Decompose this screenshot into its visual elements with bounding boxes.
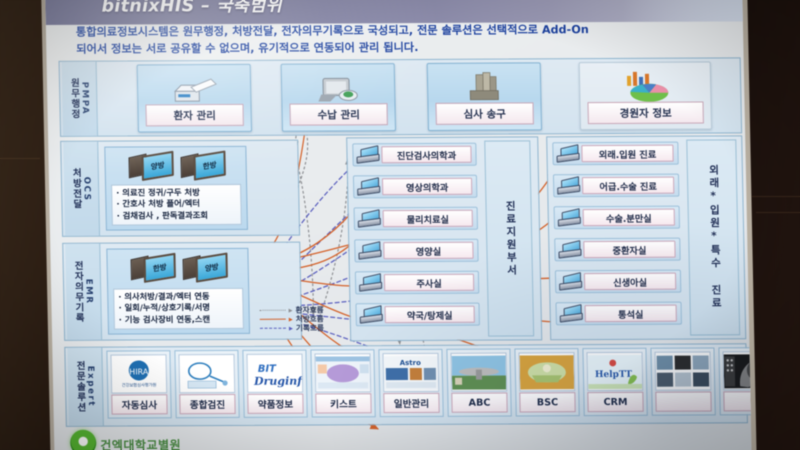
astro-site-thumb: Astro <box>382 353 439 392</box>
care-dept-group-label: 외래*입원*특수 진료 <box>706 165 720 311</box>
monitor-icon-ocs-2: 한방 <box>180 152 223 178</box>
legend-arrowhead <box>289 326 293 330</box>
dept-label: 주사실 <box>384 274 474 291</box>
emr-feature-item: 일회/누적/상호기록/서명 <box>118 302 238 314</box>
dept-label: 영양실 <box>383 242 473 259</box>
dept-row-surgery-delivery[interactable]: 수술.분만실 <box>554 206 680 230</box>
ocs-feature-item: 검채검사 , 판독결과조회 <box>117 210 237 222</box>
expert-tile-caption: 키스트 <box>315 393 371 413</box>
band-label-pmpa-en: PMPA <box>79 82 90 115</box>
card-caption-patient-management: 환자 관리 <box>145 104 243 127</box>
legend-swatch-dashed-blue <box>260 328 286 329</box>
helptt-text: HelpTT <box>595 369 633 379</box>
legend-swatch-solid-orange <box>260 319 286 320</box>
dept-label: 외래.입원 진료 <box>581 145 673 162</box>
card-payment-management[interactable]: 수납 관리 <box>281 63 396 132</box>
dept-row-dialysis[interactable]: 통석실 <box>555 302 681 326</box>
photographed-projection-screenshot: bitnixHIS – 국축범위 통합의료정보시스템은 원무행정, 처방전달, … <box>0 0 800 450</box>
wall-panel-seam-lower2 <box>756 212 800 213</box>
dept-label: 통석실 <box>585 305 677 322</box>
dept-label: 약국/탕제실 <box>385 306 475 323</box>
slide-surface: bitnixHIS – 국축범위 통합의료정보시스템은 원무행정, 처방전달, … <box>45 0 752 450</box>
dept-row-injection[interactable]: 주사실 <box>355 271 479 295</box>
flow-legend: 환자흐름 처방흐름 기록흐름 <box>260 305 325 332</box>
laptop-icon <box>558 242 580 257</box>
expert-tile-caption: 종합검진 <box>179 394 235 414</box>
expert-tile-caption: CRM <box>587 392 643 412</box>
title-band-highlight <box>622 0 743 22</box>
care-dept-group-caption: 외래*입원*특수 진료 <box>686 139 740 335</box>
dept-label: 중환자실 <box>583 241 675 258</box>
band-label-emr-kr: 전자의무기록 <box>72 261 83 323</box>
support-dept-group-caption: 진료지원부서 <box>484 140 534 336</box>
checkup-logo-thumb <box>178 354 235 393</box>
laptop-icon <box>558 210 580 225</box>
dept-row-radiology[interactable]: 영상의학과 <box>353 175 477 199</box>
dept-row-physical-therapy[interactable]: 물리치료실 <box>354 207 478 231</box>
ocs-feature-item: 의료진 정귀/구두 처방 <box>116 187 236 199</box>
svg-text:HIRA: HIRA <box>129 367 149 376</box>
dept-row-pharmacy[interactable]: 약국/탕제실 <box>355 303 479 327</box>
laptop-icon <box>358 211 380 226</box>
expert-tile-auto-review[interactable]: HIRA 건강보험심사평가원 자동심사 <box>106 350 171 418</box>
emr-feature-list: 의사처방/결과/엑터 연동 일회/누적/상호기록/서명 기능 검사장비 연동,스… <box>113 288 244 330</box>
legend-arrowhead <box>289 317 293 321</box>
support-dept-group-label: 진료지원부서 <box>503 200 516 277</box>
ultrasound-thumb <box>723 351 752 390</box>
wall-panel-seam-upper <box>0 158 40 159</box>
dept-row-nutrition[interactable]: 영양실 <box>354 239 478 263</box>
band-label-pmpa-kr: 원무행정 <box>68 78 79 120</box>
monitor-icon-emr-1: 한방 <box>130 254 173 280</box>
dept-row-outpatient-inpatient[interactable]: 외래.입원 진료 <box>552 142 678 166</box>
dept-label: 진단검사의학과 <box>381 146 471 163</box>
legend-item-record-flow: 기록흐름 <box>260 323 324 332</box>
wall-panel-seam-lower <box>752 196 800 197</box>
band-label-emr-en: EMR <box>83 279 94 305</box>
emr-system-box[interactable]: 한방 양방 의사처방/결과/엑터 연동 일회/누적/상호기록/서명 기능 검사장… <box>106 248 250 335</box>
band-label-ocs-en: OCS <box>81 176 91 201</box>
ocs-system-box[interactable]: 양방 한방 의료진 정귀/구두 처방 간호사 처방 플어/엑터 검채검사 , 판… <box>104 146 248 231</box>
band-label-expert-en: Expert <box>85 366 96 407</box>
dept-row-diagnostic-lab[interactable]: 진단검사의학과 <box>352 143 476 167</box>
expert-tile-caption <box>655 391 711 411</box>
laptop-icon <box>559 274 581 289</box>
laptop-icon <box>556 146 578 161</box>
laptop-icon <box>557 178 579 193</box>
laptop-icon <box>358 243 380 258</box>
expert-tile-drug-info[interactable]: BIT Druginfo 약품정보 <box>242 350 307 418</box>
legend-swatch-dotted-gray <box>260 310 286 311</box>
expert-tile-bsc[interactable]: BSC <box>514 348 579 416</box>
helptt-logo-thumb: HelpTT <box>586 352 643 391</box>
ocs-feature-item: 간호사 처방 플어/엑터 <box>116 198 236 210</box>
ocs-monitor-group: 양방 한방 <box>105 150 246 181</box>
monitor-screen-label: 양방 <box>196 252 228 282</box>
band-label-ocs: 처방전달 OCS <box>63 142 100 236</box>
card-claim-review[interactable]: 심사 송구 <box>427 62 542 131</box>
expert-tile-caption: ABC <box>451 393 507 413</box>
monitor-screen-label: 한방 <box>144 253 176 283</box>
support-dept-column: 진단검사의학과 영상의학과 물리치료실 영양실 <box>352 141 480 336</box>
slide-intro-paragraph: 통합의료정보시스템은 원무행정, 처방전달, 전자의무기록으로 국성되고, 전문… <box>76 21 737 58</box>
band-label-emr: 전자의무기록 EMR <box>65 244 102 340</box>
dept-label: 영상의학과 <box>382 178 472 195</box>
pacs-grid-thumb <box>655 351 712 390</box>
hira-caption: 건강보험심사평가원 <box>122 381 157 388</box>
emr-feature-item: 기능 검사장비 연동,스캔 <box>119 314 239 326</box>
laptop-icon <box>359 275 381 290</box>
organization-logo-icon <box>70 430 97 450</box>
abc-photo-thumb <box>450 353 507 392</box>
druginfo-bit-text: BIT <box>258 363 278 374</box>
expert-tile-caption: 일반관리 <box>383 393 439 413</box>
band-label-ocs-kr: 처방전달 <box>70 168 81 210</box>
card-patient-management[interactable]: 환자 관리 <box>137 64 252 133</box>
expert-tile-caption <box>723 391 751 411</box>
ocs-feature-list: 의료진 정귀/구두 처방 간호사 처방 플어/엑터 검채검사 , 판독결과조회 <box>111 184 242 226</box>
band-label-expert-kr: 전문솔루션 <box>74 361 85 413</box>
expert-tile-abc[interactable]: ABC <box>446 349 511 417</box>
slide-title: bitnixHIS – 국축범위 <box>101 0 282 18</box>
dept-label: 물리치료실 <box>383 210 473 227</box>
dept-label: 수술.분만실 <box>583 209 675 226</box>
expert-tile-pacs[interactable] <box>650 347 715 415</box>
band-label-expert: 전문솔루션 Expert <box>67 348 104 426</box>
expert-tile-ultrasound[interactable] <box>718 347 751 415</box>
monitor-icon-ocs-1: 양방 <box>128 152 171 178</box>
expert-tile-general-admin[interactable]: Astro 일반관리 <box>378 349 443 417</box>
laptop-icon <box>560 306 582 321</box>
dept-row-icu[interactable]: 중환자실 <box>554 238 680 262</box>
card-executive-info[interactable]: 경원자 정보 <box>579 61 712 130</box>
emr-monitor-group: 한방 양방 <box>107 252 248 283</box>
expert-tile-kist[interactable]: 키스트 <box>310 349 375 417</box>
card-caption-payment-management: 수납 관리 <box>289 103 387 126</box>
hira-logo-thumb: HIRA 건강보험심사평가원 <box>110 354 167 393</box>
bit-druginfo-logo-thumb: BIT Druginfo <box>246 354 303 393</box>
expert-tile-caption: BSC <box>519 392 575 412</box>
expert-tile-crm[interactable]: HelpTT CRM <box>582 348 647 416</box>
monitor-screen-label: 한방 <box>193 150 225 180</box>
bsc-photo-thumb <box>518 352 575 391</box>
card-caption-executive-info: 경원자 정보 <box>587 102 703 125</box>
druginfo-name-text: Druginfo <box>253 374 302 387</box>
dept-row-emergency-surgery[interactable]: 어급.수술 진료 <box>553 174 679 198</box>
monitor-icon-emr-2: 양방 <box>182 254 225 280</box>
laptop-icon <box>357 179 379 194</box>
emr-feature-item: 의사처방/결과/엑터 연동 <box>118 291 238 303</box>
dept-label: 어급.수술 진료 <box>582 177 674 194</box>
intro-line-2: 되어서 정보는 서로 공유할 수 없으며, 유기적으로 연동되어 관리 됩니다. <box>76 38 736 58</box>
laptop-icon <box>356 147 378 162</box>
legend-label: 기록흐름 <box>296 322 324 333</box>
expert-tile-caption: 자동심사 <box>111 394 167 414</box>
dept-row-nicu[interactable]: 신생아실 <box>555 270 681 294</box>
intro-line-1: 통합의료정보시스템은 원무행정, 처방전달, 전자의무기록으로 국성되고, 전문… <box>76 23 589 39</box>
expert-tile-checkup[interactable]: 종합검진 <box>174 350 239 418</box>
laptop-icon <box>360 307 382 322</box>
dept-label: 신생아실 <box>584 273 676 290</box>
band-label-pmpa: 원무행정 PMPA <box>62 62 98 136</box>
organization-logo-text: 건엑대학교별원 <box>100 436 181 450</box>
care-dept-column: 외래.입원 진료 어급.수술 진료 수술.분만실 중환자실 <box>552 140 682 335</box>
card-caption-claim-review: 심사 송구 <box>435 102 533 125</box>
projection-screen: bitnixHIS – 국축범위 통합의료정보시스템은 원무행정, 처방전달, … <box>41 0 757 450</box>
kist-site-thumb <box>314 353 371 392</box>
astro-text: Astro <box>400 358 422 366</box>
monitor-screen-label: 양방 <box>141 151 173 181</box>
legend-arrowhead <box>289 308 293 312</box>
slide-body: 원무행정 PMPA 환자 관리 <box>59 57 742 450</box>
expert-tile-caption: 약품정보 <box>247 394 303 414</box>
